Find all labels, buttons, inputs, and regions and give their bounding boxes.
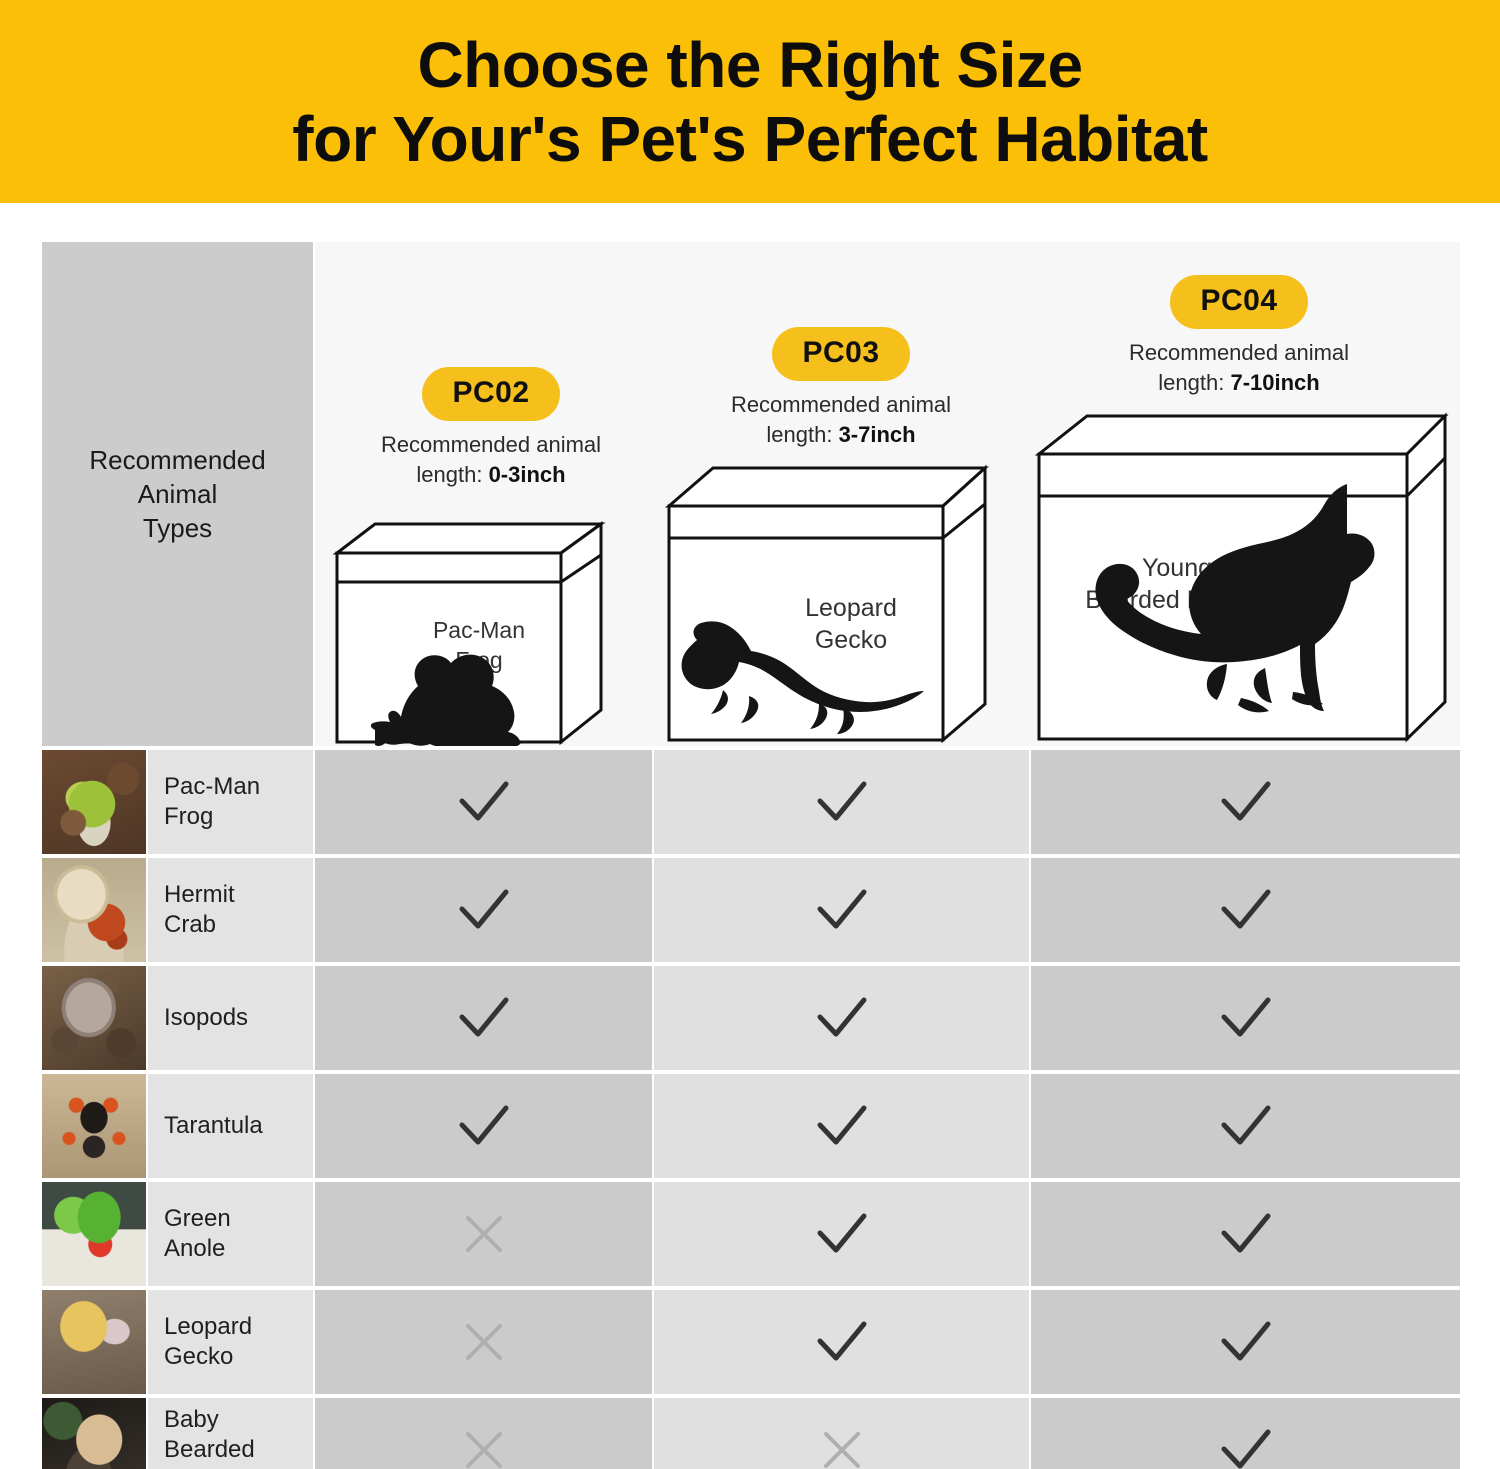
row-header-title: Recommended Animal Types [89,443,265,545]
check-icon [456,887,512,933]
comparison-table: Recommended Animal Types PC02 Recommende… [42,242,1460,1469]
cell-pc02 [315,1182,652,1286]
leopard-gecko-photo [42,1290,146,1394]
rec-value-pc02: 0-3inch [489,462,566,487]
badge-pc03: PC03 [772,327,909,381]
rec-label-pc02: length: [416,462,488,487]
rec-value-pc04: 7-10inch [1230,370,1319,395]
table-header-row: Recommended Animal Types PC02 Recommende… [42,242,1460,746]
cell-pc04 [1031,966,1460,1070]
cross-icon [460,1426,508,1469]
cross-icon [460,1210,508,1258]
tarantula-photo [42,1074,146,1178]
row-label: Hermit Crab [164,880,235,940]
table-row: Hermit Crab [42,858,1460,962]
pacman-frog-photo [42,750,146,854]
row-label-cell: Isopods [148,966,313,1070]
check-icon [1218,1211,1274,1257]
size-illustration-panel: PC02 Recommended animal length: 0-3inch [315,242,1460,746]
green-anole-photo [42,1182,146,1286]
check-icon [814,995,870,1041]
row-label-cell: Leopard Gecko [148,1290,313,1394]
terrarium-box-pc03: Leopard Gecko [661,458,1021,746]
row-label: Pac-Man Frog [164,772,260,832]
check-icon [1218,1319,1274,1365]
row-label-cell: Green Anole [148,1182,313,1286]
table-row: Leopard Gecko [42,1290,1460,1394]
cell-pc02 [315,1290,652,1394]
box-label-pc03-line2: Gecko [815,626,887,654]
cell-pc04 [1031,858,1460,962]
cell-pc04 [1031,1074,1460,1178]
cell-pc02 [315,858,652,962]
cross-icon [460,1318,508,1366]
box-label-pc03-line1: Leopard [805,594,897,622]
check-icon [1218,887,1274,933]
cell-pc03 [654,966,1029,1070]
cell-pc03 [654,858,1029,962]
check-icon [814,779,870,825]
row-label-cell: Hermit Crab [148,858,313,962]
banner-title-line-1: Choose the Right Size [417,28,1082,102]
rec-prefix-pc03: Recommended animal [731,392,951,417]
cell-pc03 [654,1290,1029,1394]
check-icon [1218,779,1274,825]
cell-pc04 [1031,1182,1460,1286]
rec-label-pc04: length: [1158,370,1230,395]
row-label: Green Anole [164,1204,231,1264]
size-caption-pc04: PC04 Recommended animal length: 7-10inch [1029,275,1449,398]
recommendation-pc02: Recommended animal length: 0-3inch [329,430,653,490]
recommendation-pc04: Recommended animal length: 7-10inch [1029,338,1449,398]
size-caption-pc03: PC03 Recommended animal length: 3-7inch [661,327,1021,450]
rec-value-pc03: 3-7inch [839,422,916,447]
table-row: Pac-Man Frog [42,750,1460,854]
badge-pc04: PC04 [1170,275,1307,329]
check-icon [1218,995,1274,1041]
banner-title-line-2: for Your's Pet's Perfect Habitat [292,102,1207,176]
row-label-cell: Baby Bearded Dragon [148,1398,313,1469]
table-row: Tarantula [42,1074,1460,1178]
check-icon [456,1103,512,1149]
cell-pc03 [654,1074,1029,1178]
row-header-title-cell: Recommended Animal Types [42,242,313,746]
cell-pc04 [1031,1290,1460,1394]
terrarium-box-pc02: Pac-Man Frog [329,498,653,746]
infographic-page: Choose the Right Size for Your's Pet's P… [0,0,1500,1469]
hermit-crab-photo [42,858,146,962]
size-column-pc03: PC03 Recommended animal length: 3-7inch [661,327,1021,746]
size-caption-pc02: PC02 Recommended animal length: 0-3inch [329,367,653,490]
rec-prefix-pc04: Recommended animal [1129,340,1349,365]
row-label-cell: Tarantula [148,1074,313,1178]
check-icon [814,1103,870,1149]
row-label: Tarantula [164,1111,263,1141]
table-row: Green Anole [42,1182,1460,1286]
check-icon [456,995,512,1041]
cell-pc03 [654,1398,1029,1469]
table-row: Isopods [42,966,1460,1070]
size-column-pc02: PC02 Recommended animal length: 0-3inch [329,367,653,746]
row-label: Leopard Gecko [164,1312,252,1372]
cell-pc02 [315,1074,652,1178]
check-icon [1218,1427,1274,1469]
cell-pc02 [315,1398,652,1469]
row-label: Isopods [164,1003,248,1033]
header-banner: Choose the Right Size for Your's Pet's P… [0,0,1500,203]
cell-pc03 [654,1182,1029,1286]
size-column-pc04: PC04 Recommended animal length: 7-10inch [1029,275,1449,746]
check-icon [456,779,512,825]
cell-pc04 [1031,750,1460,854]
row-label-cell: Pac-Man Frog [148,750,313,854]
check-icon [1218,1103,1274,1149]
row-label: Baby Bearded Dragon [164,1405,313,1469]
cell-pc02 [315,966,652,1070]
cross-icon [818,1426,866,1469]
box-label-pc02-line1: Pac-Man [433,617,525,643]
baby-bearded-dragon-photo [42,1398,146,1469]
check-icon [814,1211,870,1257]
cell-pc02 [315,750,652,854]
recommendation-pc03: Recommended animal length: 3-7inch [661,390,1021,450]
terrarium-box-pc04: Young Bearded Dragon [1029,406,1449,746]
rec-label-pc03: length: [766,422,838,447]
rec-prefix-pc02: Recommended animal [381,432,601,457]
cell-pc03 [654,750,1029,854]
badge-pc02: PC02 [422,367,559,421]
table-row: Baby Bearded Dragon [42,1398,1460,1469]
check-icon [814,1319,870,1365]
isopod-photo [42,966,146,1070]
check-icon [814,887,870,933]
cell-pc04 [1031,1398,1460,1469]
